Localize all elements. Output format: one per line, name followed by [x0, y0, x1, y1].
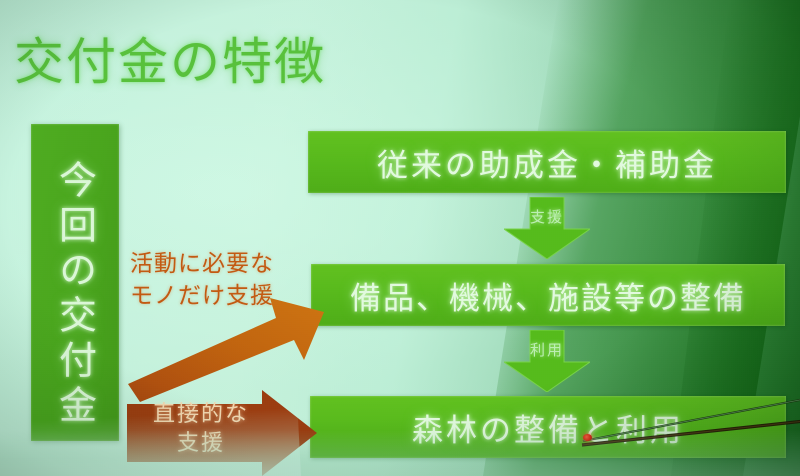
flow-box-equipment: 備品、機械、施設等の整備	[311, 264, 785, 326]
flow-box-conventional: 従来の助成金・補助金	[308, 131, 786, 193]
flow-box-forest-label: 森林の整備と利用	[412, 405, 684, 450]
direct-support-line1: 直接的な	[135, 400, 267, 429]
projected-slide-photo: 交付金の特徴 今回の交付金 従来の助成金・補助金 支援 備品、機械、施設等の整備…	[0, 0, 800, 476]
panel-current-grant: 今回の交付金	[31, 124, 119, 441]
page-title: 交付金の特徴	[14, 36, 326, 89]
laser-pointer-dot	[583, 434, 592, 441]
flow-box-conventional-label: 従来の助成金・補助金	[377, 140, 717, 185]
flow-arrow-use-label: 利用	[504, 339, 590, 360]
direct-support-arrow: 直接的な 支援	[127, 390, 317, 476]
note-activity-support: 活動に必要な モノだけ支援	[130, 249, 274, 312]
direct-support-line2: 支援	[135, 429, 267, 458]
note-activity-line1: 活動に必要な	[130, 249, 274, 281]
flow-arrow-support: 支援	[504, 197, 590, 259]
note-activity-line2: モノだけ支援	[130, 281, 274, 313]
flow-box-equipment-label: 備品、機械、施設等の整備	[350, 273, 746, 318]
direct-support-arrow-label: 直接的な 支援	[135, 400, 267, 458]
panel-current-grant-label: 今回の交付金	[48, 160, 103, 430]
flow-arrow-support-label: 支援	[504, 206, 590, 227]
flow-box-forest: 森林の整備と利用	[310, 396, 786, 458]
flow-arrow-use: 利用	[504, 330, 590, 392]
